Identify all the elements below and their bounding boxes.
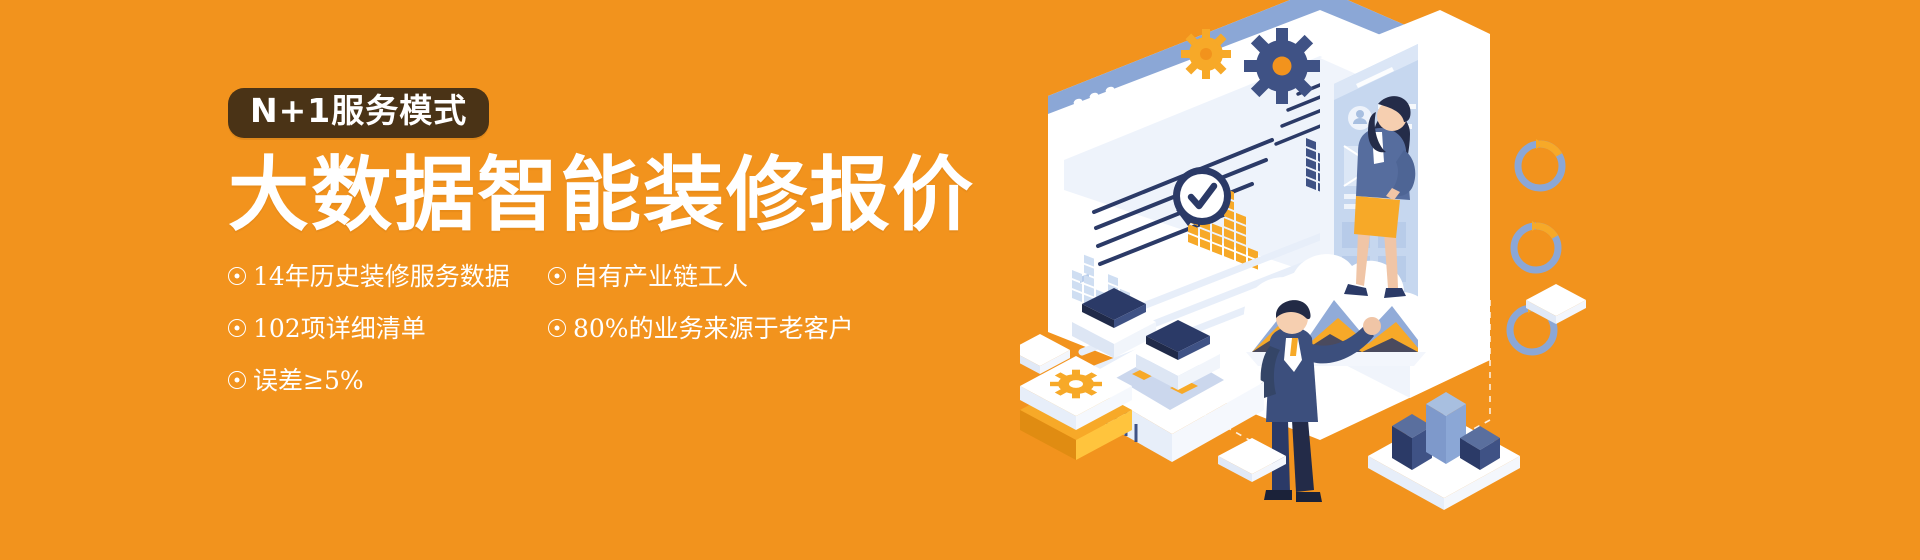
service-model-badge: N+1服务模式 — [228, 88, 489, 138]
gear-icon-stack — [1050, 370, 1102, 399]
bar-column-chart — [1368, 392, 1520, 510]
bullet-target-icon — [228, 371, 246, 389]
list-item-label: 14年历史装修服务数据 — [253, 264, 510, 289]
list-item-label: 102项详细清单 — [253, 316, 426, 341]
feature-bullet-list: 14年历史装修服务数据 自有产业链工人 102项详细清单 80%的业务来源于老客… — [228, 264, 888, 420]
page-title: 大数据智能装修报价 — [228, 154, 988, 238]
gear-icon-small — [1181, 29, 1231, 79]
list-item: 14年历史装修服务数据 — [228, 264, 548, 289]
list-item-label: 80%的业务来源于老客户 — [573, 316, 854, 341]
bullet-target-icon — [228, 267, 246, 285]
bullet-target-icon — [548, 267, 566, 285]
promo-banner: N+1服务模式 大数据智能装修报价 14年历史装修服务数据 自有产业链工人 10… — [0, 0, 1920, 560]
list-item: 80%的业务来源于老客户 — [548, 316, 888, 341]
list-item-label: 误差≥5% — [253, 368, 364, 393]
list-item: 自有产业链工人 — [548, 264, 888, 289]
banner-text-block: N+1服务模式 大数据智能装修报价 14年历史装修服务数据 自有产业链工人 10… — [228, 88, 988, 420]
list-item: 102项详细清单 — [228, 316, 548, 341]
list-item: 误差≥5% — [228, 368, 888, 393]
list-item-label: 自有产业链工人 — [573, 264, 748, 289]
isometric-big-data-illustration — [1020, 0, 1920, 560]
gear-icon-large — [1244, 28, 1320, 104]
bullet-target-icon — [548, 319, 566, 337]
bullet-target-icon — [228, 319, 246, 337]
